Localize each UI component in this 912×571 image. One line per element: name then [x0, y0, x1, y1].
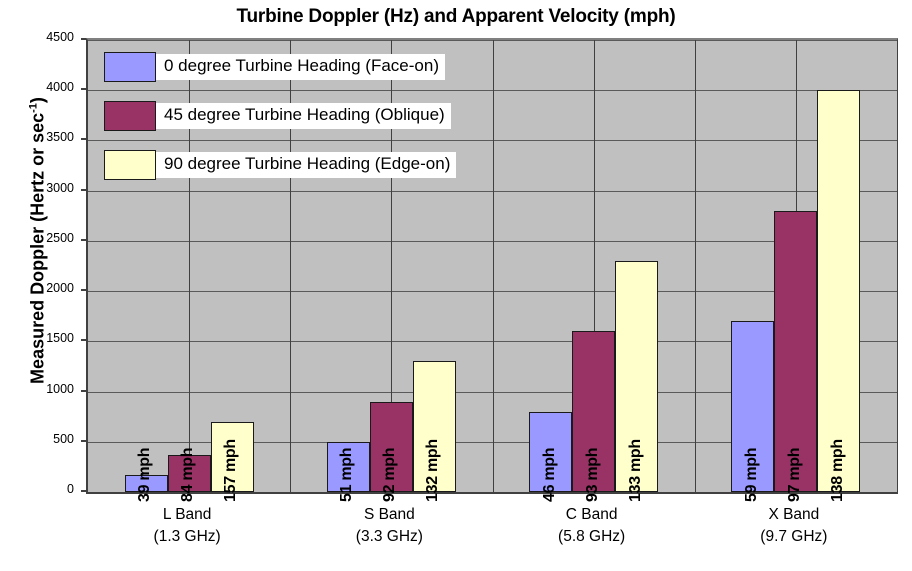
bar-value-label: 157 mph — [222, 439, 240, 502]
chart-title: Turbine Doppler (Hz) and Apparent Veloci… — [0, 6, 912, 28]
y-axis-tick-label: 500 — [53, 432, 74, 446]
x-axis-category-name: C Band — [491, 504, 693, 526]
x-axis-category-name: L Band — [86, 504, 288, 526]
bar-value-label: 138 mph — [829, 439, 847, 502]
x-axis-category-label: L Band(1.3 GHz) — [86, 504, 288, 548]
bar-value-label: 59 mph — [743, 448, 761, 502]
bar-value-label: 93 mph — [584, 448, 602, 502]
y-axis-tick-label: 0 — [67, 482, 74, 496]
legend-label: 45 degree Turbine Heading (Oblique) — [156, 103, 451, 129]
bar-value-label: 132 mph — [424, 439, 442, 502]
x-axis-category-name: S Band — [288, 504, 490, 526]
bar-value-label: 133 mph — [627, 439, 645, 502]
bar-value-label: 39 mph — [136, 448, 154, 502]
bar-value-label: 51 mph — [338, 448, 356, 502]
x-axis-category-label: C Band(5.8 GHz) — [491, 504, 693, 548]
bar-value-label: 92 mph — [381, 448, 399, 502]
legend-label: 0 degree Turbine Heading (Face-on) — [156, 54, 445, 80]
x-axis-category-label: S Band(3.3 GHz) — [288, 504, 490, 548]
y-axis-title-exponent: -1 — [28, 103, 40, 113]
y-axis-tick-label: 1500 — [46, 331, 74, 345]
bar-value-label: 84 mph — [179, 448, 197, 502]
y-axis-tick-label: 1000 — [46, 382, 74, 396]
y-axis-tick-label: 2000 — [46, 281, 74, 295]
legend-item[interactable]: 0 degree Turbine Heading (Face-on) — [104, 52, 445, 82]
legend-swatch — [104, 101, 156, 131]
y-axis-title-tail: ) — [28, 97, 48, 103]
y-axis-tick-label: 4000 — [46, 80, 74, 94]
x-axis-category-frequency: (9.7 GHz) — [693, 526, 895, 548]
y-axis-tick-label: 4500 — [46, 30, 74, 44]
y-axis-tick-label: 3000 — [46, 181, 74, 195]
legend-item[interactable]: 90 degree Turbine Heading (Edge-on) — [104, 150, 456, 180]
bar-value-label: 46 mph — [541, 448, 559, 502]
x-axis-category-frequency: (5.8 GHz) — [491, 526, 693, 548]
x-axis-category-label: X Band(9.7 GHz) — [693, 504, 895, 548]
bar[interactable] — [817, 90, 860, 492]
y-axis-title-base: Measured Doppler (Hertz or sec — [28, 113, 48, 384]
gridline-vertical — [493, 40, 494, 492]
bar-value-label: 97 mph — [786, 448, 804, 502]
legend-item[interactable]: 45 degree Turbine Heading (Oblique) — [104, 101, 451, 131]
gridline-vertical — [695, 40, 696, 492]
legend-label: 90 degree Turbine Heading (Edge-on) — [156, 152, 456, 178]
legend-swatch — [104, 150, 156, 180]
x-axis-category-name: X Band — [693, 504, 895, 526]
y-axis-tick-label: 2500 — [46, 231, 74, 245]
chart-root: Turbine Doppler (Hz) and Apparent Veloci… — [0, 0, 912, 571]
x-axis-category-frequency: (3.3 GHz) — [288, 526, 490, 548]
x-axis-category-frequency: (1.3 GHz) — [86, 526, 288, 548]
legend-swatch — [104, 52, 156, 82]
y-axis-tick-label: 3500 — [46, 130, 74, 144]
